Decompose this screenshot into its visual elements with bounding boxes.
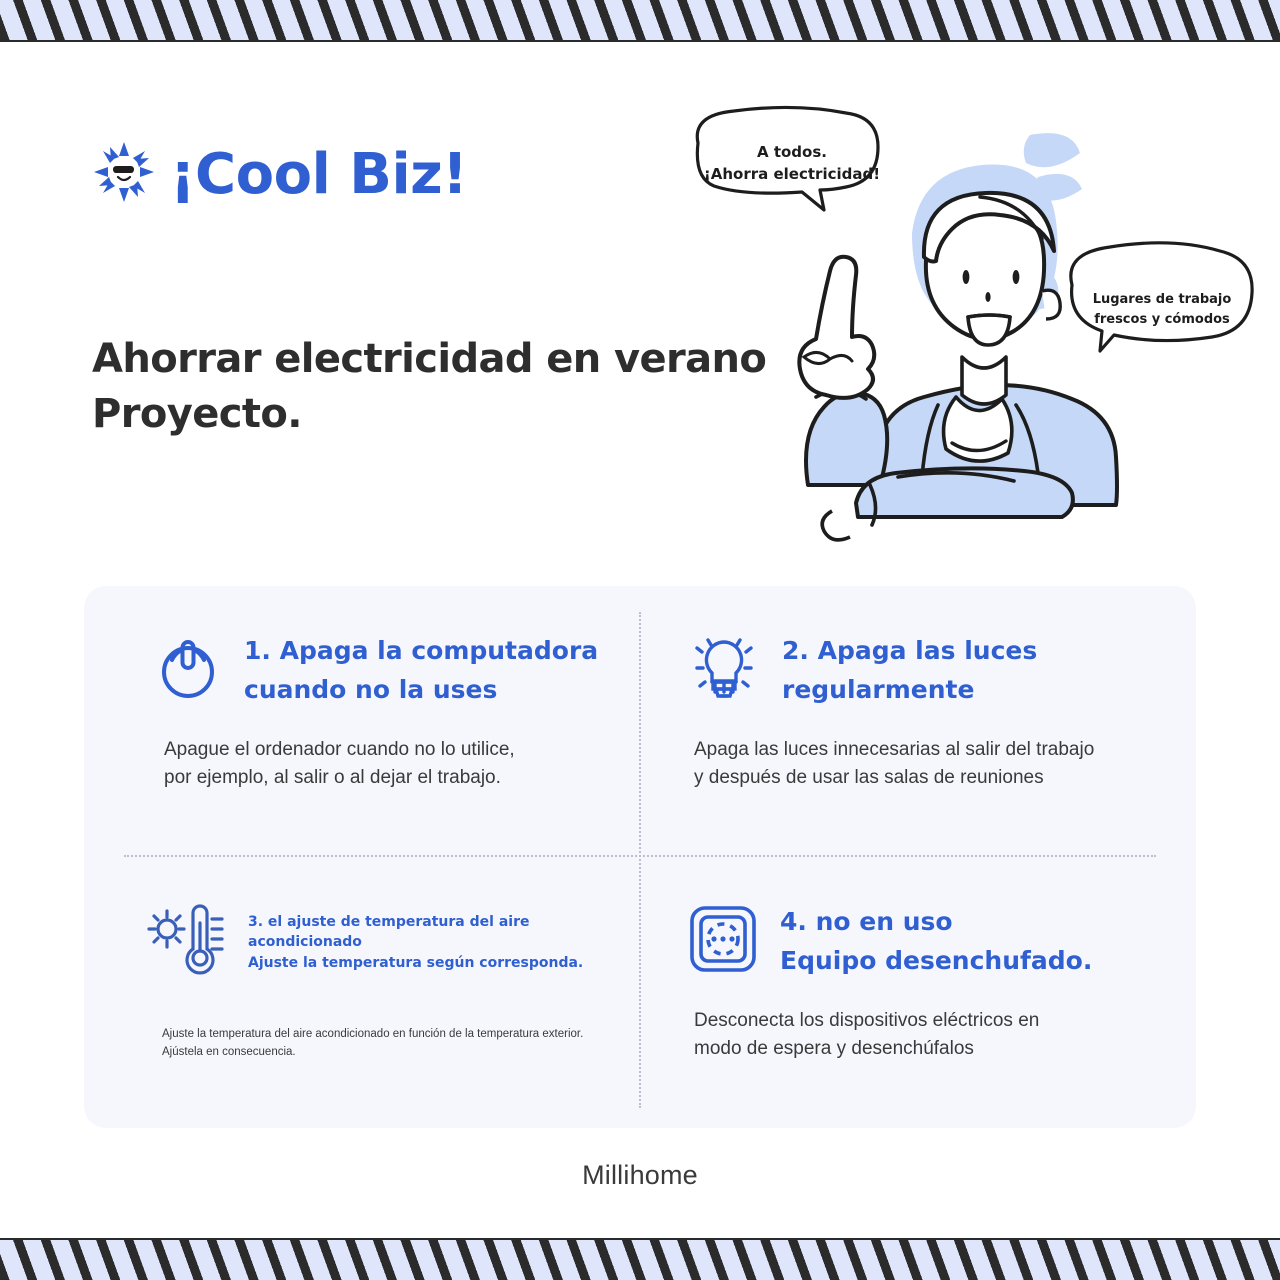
bubble-one-line1: A todos. [757, 143, 827, 161]
power-button-icon [154, 634, 222, 707]
speech-bubble-two: Lugares de trabajo frescos y cómodos [1071, 243, 1252, 351]
tip-card-4[interactable]: 4. no en uso Equipo desenchufado. Descon… [640, 857, 1196, 1128]
tip-3-title-line2: Ajuste la temperatura según corresponda. [248, 953, 600, 973]
tip-1-body-line1: Apague el ordenador cuando no lo utilice… [164, 736, 600, 764]
power-outlet-icon [688, 904, 758, 979]
tip-2-title-line2: regularmente [782, 671, 1037, 710]
top-stripe-border [0, 0, 1280, 42]
logo-title: ¡Cool Biz! [170, 147, 467, 203]
tip-1-title-line1: 1. Apaga la computadora [244, 632, 598, 671]
tip-4-body-line1: Desconecta los dispositivos eléctricos e… [694, 1007, 1156, 1035]
hero-illustration: A todos. ¡Ahorra electricidad! Lugares d… [680, 105, 1260, 555]
speech-bubble-one: A todos. ¡Ahorra electricidad! [697, 107, 880, 210]
tip-4-header: 4. no en uso Equipo desenchufado. [680, 903, 1156, 981]
bottom-stripe-border [0, 1238, 1280, 1280]
tip-3-title: 3. el ajuste de temperatura del aire aco… [248, 912, 600, 973]
light-bulb-icon [688, 632, 760, 709]
brand-logo: ¡Cool Biz! [92, 140, 467, 209]
page-headline: Ahorrar electricidad en verano Proyecto. [92, 332, 772, 442]
tip-card-2[interactable]: 2. Apaga las luces regularmente Apaga la… [640, 586, 1196, 857]
bubble-one-line2: ¡Ahorra electricidad! [704, 165, 880, 183]
tip-4-title-line2: Equipo desenchufado. [780, 942, 1092, 981]
bubble-two-line1: Lugares de trabajo [1093, 292, 1232, 307]
tip-card-1[interactable]: 1. Apaga la computadora cuando no la use… [84, 586, 640, 857]
tip-1-title-line2: cuando no la uses [244, 671, 598, 710]
tip-2-title-line1: 2. Apaga las luces [782, 632, 1037, 671]
tip-1-header: 1. Apaga la computadora cuando no la use… [126, 632, 600, 710]
tip-2-title: 2. Apaga las luces regularmente [782, 632, 1037, 710]
tip-1-title: 1. Apaga la computadora cuando no la use… [244, 632, 598, 710]
tip-2-header: 2. Apaga las luces regularmente [680, 632, 1156, 710]
tip-4-body-line2: modo de espera y desenchúfalos [694, 1035, 1156, 1063]
tip-card-3[interactable]: 3. el ajuste de temperatura del aire aco… [84, 857, 640, 1128]
tip-1-body: Apague el ordenador cuando no lo utilice… [126, 736, 600, 792]
vertical-divider [639, 612, 641, 1108]
tip-3-header: 3. el ajuste de temperatura del aire aco… [124, 903, 600, 982]
tip-2-body-line1: Apaga las luces innecesarias al salir de… [694, 736, 1156, 764]
tip-3-body: Ajuste la temperatura del aire acondicio… [124, 1026, 600, 1062]
tip-4-body: Desconecta los dispositivos eléctricos e… [680, 1007, 1156, 1063]
footer-brand: Millihome [0, 1160, 1280, 1191]
tip-1-body-line2: por ejemplo, al salir o al dejar el trab… [164, 764, 600, 792]
tip-3-body-line1: Ajuste la temperatura del aire acondicio… [162, 1026, 600, 1044]
tip-2-body-line2: y después de usar las salas de reuniones [694, 764, 1156, 792]
sun-sunglasses-icon [92, 140, 156, 209]
tip-4-title: 4. no en uso Equipo desenchufado. [780, 903, 1092, 981]
woman-pointing-icon [799, 164, 1117, 539]
tip-2-body: Apaga las luces innecesarias al salir de… [680, 736, 1156, 792]
bubble-two-line2: frescos y cómodos [1094, 312, 1230, 327]
horizontal-divider [124, 855, 1156, 857]
tip-3-title-line1: 3. el ajuste de temperatura del aire aco… [248, 912, 600, 953]
sun-thermometer-icon [146, 903, 226, 982]
tip-3-body-line2: Ajústela en consecuencia. [162, 1044, 600, 1062]
tip-4-title-line1: 4. no en uso [780, 903, 1092, 942]
